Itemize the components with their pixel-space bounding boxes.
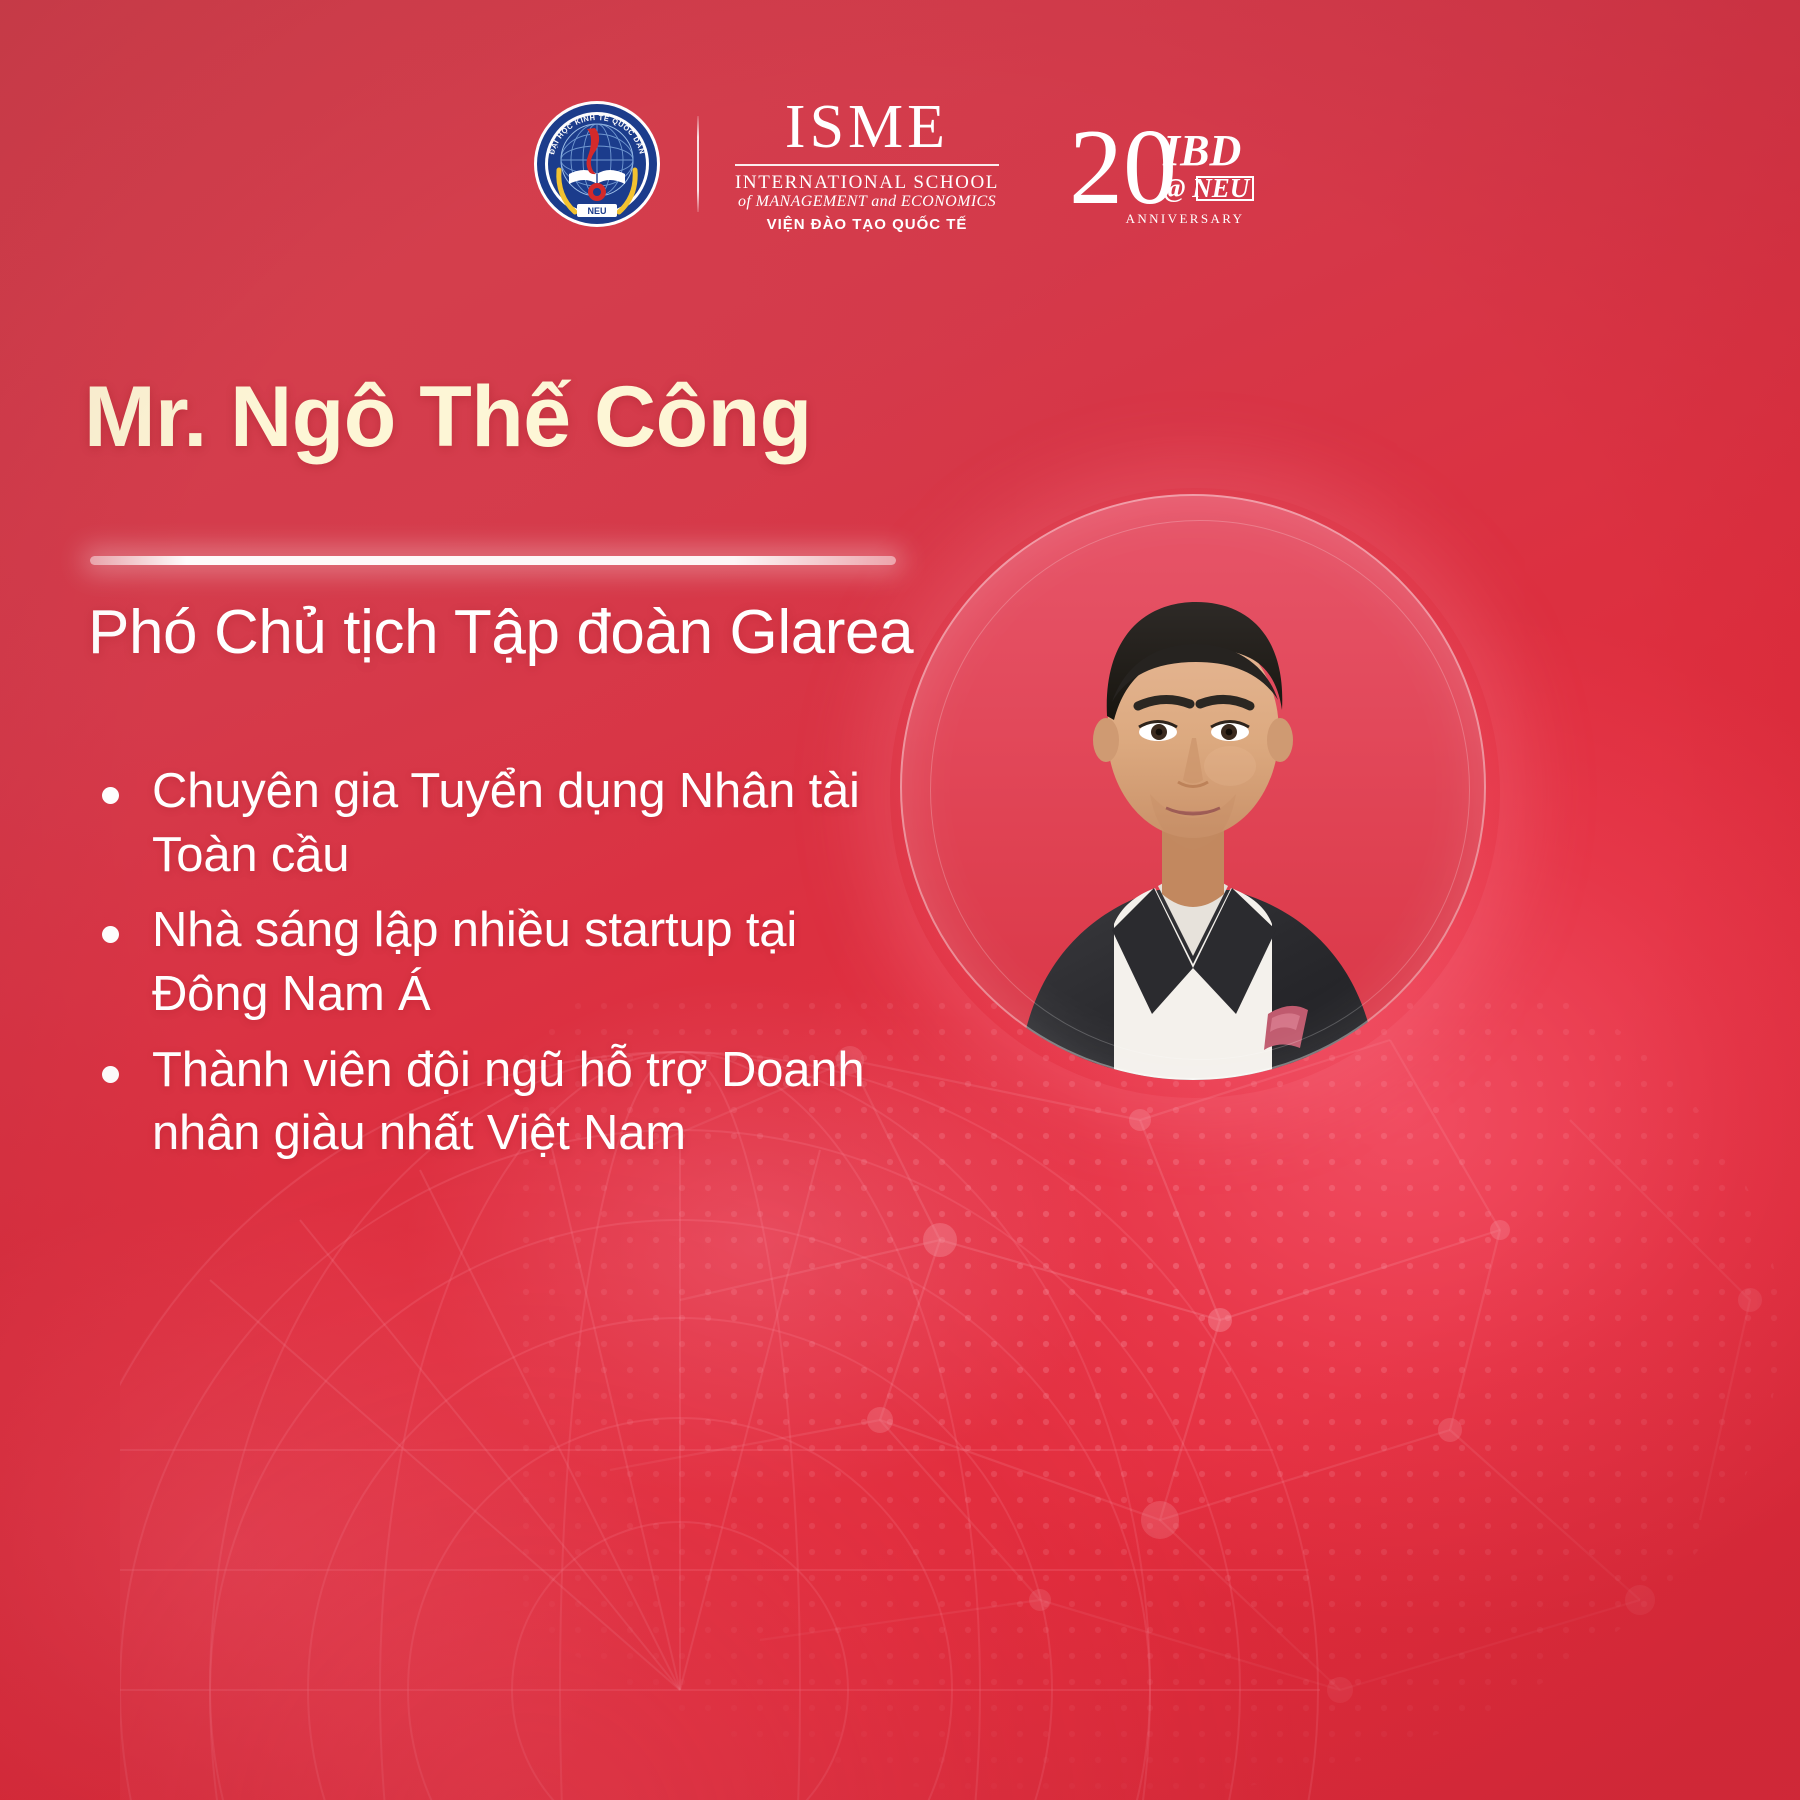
list-item-label: Thành viên đội ngũ hỗ trợ Doanh nhân già… [152,1043,864,1161]
speaker-poster: NEU ĐẠI HỌC KINH TẾ QUỐC DÂN ISME INTERN… [0,0,1800,1800]
logo-header: NEU ĐẠI HỌC KINH TẾ QUỐC DÂN ISME INTERN… [0,96,1800,232]
svg-text:NEU: NEU [587,206,606,216]
isme-line-3: VIỆN ĐÀO TẠO QUỐC TẾ [767,217,968,232]
svg-text:IBD: IBD [1162,126,1241,175]
glow-left [0,1180,680,1800]
logo-divider [697,116,699,212]
anniversary-logo: 20 IBD @ NEU ANNIVERSARY [1067,99,1267,229]
portrait-ring-inner [930,520,1470,1060]
list-item: Nhà sáng lập nhiều startup tại Đông Nam … [90,899,920,1026]
neu-university-seal-icon: NEU ĐẠI HỌC KINH TẾ QUỐC DÂN [533,100,661,228]
isme-line-1: INTERNATIONAL SCHOOL [735,173,999,192]
svg-text:ANNIVERSARY: ANNIVERSARY [1126,211,1245,226]
isme-rule [735,164,999,166]
isme-line-2: of MANAGEMENT and ECONOMICS [738,194,996,210]
bullet-dot-icon [102,787,119,804]
list-item: Chuyên gia Tuyển dụng Nhân tài Toàn cầu [90,760,920,887]
speaker-name: Mr. Ngô Thế Công [84,372,812,462]
bullet-dot-icon [102,1066,119,1083]
speaker-role: Phó Chủ tịch Tập đoàn Glarea [88,598,913,667]
svg-text:20: 20 [1069,108,1177,227]
list-item-label: Chuyên gia Tuyển dụng Nhân tài Toàn cầu [152,764,860,882]
isme-wordmark: ISME [785,96,949,158]
list-item: Thành viên đội ngũ hỗ trợ Doanh nhân già… [90,1039,920,1166]
bullet-dot-icon [102,926,119,943]
title-divider-rule [90,556,896,565]
list-item-label: Nhà sáng lập nhiều startup tại Đông Nam … [152,903,797,1021]
speaker-bullet-list: Chuyên gia Tuyển dụng Nhân tài Toàn cầu … [90,760,920,1178]
isme-logo: ISME INTERNATIONAL SCHOOL of MANAGEMENT … [735,96,999,232]
